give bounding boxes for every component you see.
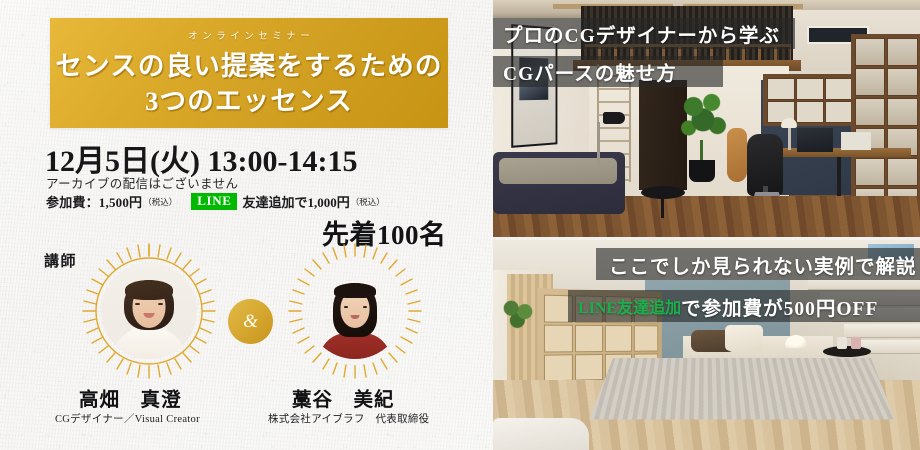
photo-top: プロのCGデザイナーから学ぶ CGパースの魅せ方 [493, 0, 920, 237]
cup [851, 337, 861, 349]
fee-row: 参加費：1,500円 （税込） LINE 友達追加で1,000円 （税込） [46, 192, 385, 211]
capacity-label: 先着100名 [322, 213, 447, 252]
instructor-portrait-1 [90, 252, 208, 370]
instructor-role-1: CGデザイナー／Visual Creator [55, 411, 200, 426]
small-plant [501, 298, 535, 332]
photo-top-overlay-band-1: プロのCGデザイナーから学ぶ [493, 18, 795, 49]
photo-bottom-overlay-text-white: で参加費が500円OFF [681, 292, 878, 321]
potted-plant-foliage [679, 92, 727, 150]
portrait-1-body [112, 327, 186, 359]
photo-bottom-overlay-band-2: LINE友達追加で参加費が500円OFF [568, 290, 920, 322]
title-banner: オンラインセミナー センスの良い提案をするための 3つのエッセンス [50, 18, 448, 128]
seminar-poster: オンラインセミナー センスの良い提案をするための 3つのエッセンス 12月5日(… [0, 0, 920, 450]
wall-bookshelf-right [851, 34, 920, 214]
archive-note: アーカイブの配信はございません [46, 173, 238, 192]
photo-top-overlay-band-2: CGパースの魅せ方 [493, 56, 723, 87]
floor-lamp-shade [603, 112, 625, 124]
instructor-portrait-2 [296, 252, 414, 370]
line-badge: LINE [191, 193, 237, 211]
instructor-name-1: 高畑 真澄 [79, 383, 182, 412]
bed-pillow [725, 325, 763, 351]
bathtub [493, 418, 589, 450]
fee-discount-label: 友達追加で1,000円 [242, 192, 349, 211]
side-table-leg [661, 196, 664, 218]
fee-label: 参加費：1,500円 [46, 192, 142, 211]
floor-lamp-pole [597, 122, 600, 168]
fee-tax-note: （税込） [143, 196, 177, 208]
ampersand-badge: & [228, 299, 273, 344]
photo-bottom: ここでしか見られない実例で解説 LINE友達追加で参加費が500円OFF [493, 240, 920, 450]
desk-lamp-stem [788, 128, 791, 150]
photo-bottom-overlay-text-green: LINE友達追加 [578, 294, 681, 318]
portrait-photo-2 [307, 263, 403, 359]
portrait-1-fringe [125, 280, 173, 300]
laptop [797, 128, 833, 152]
instructor-role-2: 株式会社アイブラフ 代表取締役 [268, 411, 429, 426]
instructor-section-label: 講師 [44, 250, 77, 271]
fee-discount-tax-note: （税込） [351, 196, 385, 208]
banner-title-line1: センスの良い提案をするための [55, 49, 442, 84]
stair-step [844, 324, 920, 338]
banner-title-line2: 3つのエッセンス [145, 84, 353, 119]
banner-eyebrow: オンラインセミナー [184, 28, 315, 42]
cup [837, 337, 847, 349]
wall-bookshelf-mid [763, 74, 857, 126]
desk-books [841, 132, 871, 150]
acoustic-guitar [727, 128, 747, 182]
portrait-2-fringe [334, 283, 376, 298]
desk-lamp-shade [781, 118, 797, 128]
right-photo-panel: プロのCGデザイナーから学ぶ CGパースの魅せ方 [493, 0, 920, 450]
instructor-name-2: 藁谷 美紀 [292, 383, 395, 412]
potted-plant-pot [689, 160, 715, 182]
area-rug [589, 358, 895, 420]
serving-tray [823, 346, 871, 357]
portrait-photo-1 [101, 263, 197, 359]
photo-top-overlay-text-2: CGパースの魅せ方 [503, 57, 677, 86]
photo-bottom-overlay-band-1: ここでしか見られない実例で解説 [596, 248, 920, 280]
left-info-panel: オンラインセミナー センスの良い提案をするための 3つのエッセンス 12月5日(… [0, 0, 493, 450]
photo-bottom-overlay-text-1: ここでしか見られない実例で解説 [609, 250, 917, 279]
photo-top-overlay-text-1: プロのCGデザイナーから学ぶ [503, 19, 780, 48]
